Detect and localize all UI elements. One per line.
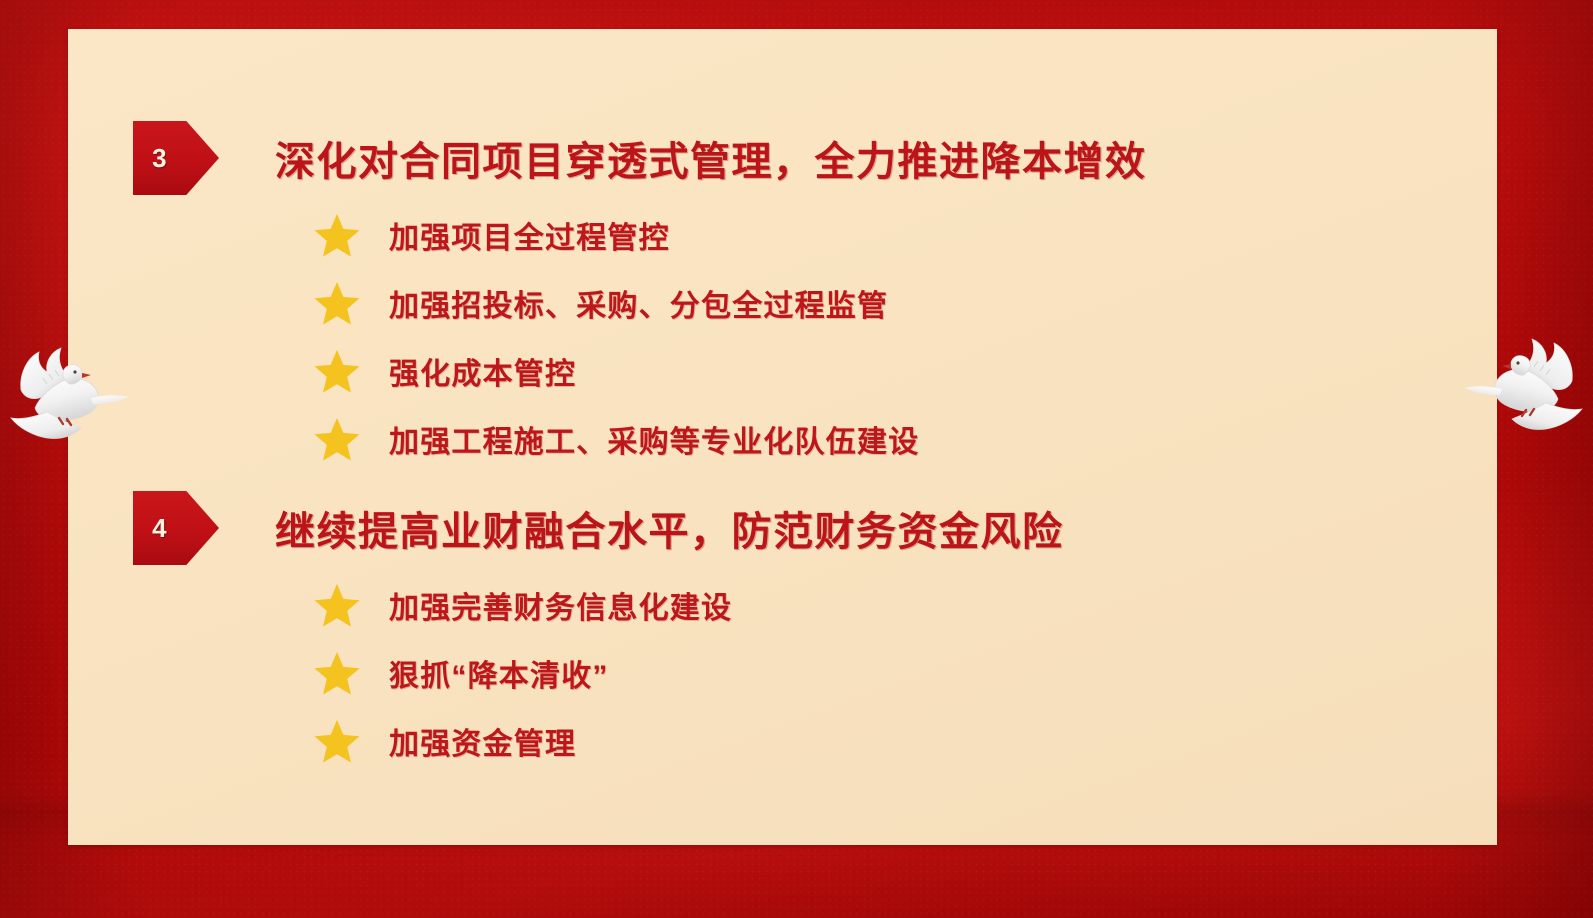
list-item: 加强招投标、采购、分包全过程监管: [0, 269, 1593, 337]
star-icon: [313, 582, 361, 628]
star-icon: [313, 212, 361, 258]
bullet-list-4: 加强完善财务信息化建设 狠抓“降本清收” 加强资金管理: [0, 571, 1593, 775]
list-item: 加强资金管理: [0, 707, 1593, 775]
slide-canvas: 3 深化对合同项目穿透式管理，全力推进降本增效 加强项目全过程管控: [0, 0, 1593, 918]
section-header-4: 4 继续提高业财融合水平，防范财务资金风险: [0, 491, 1593, 565]
badge-number-label: 4: [133, 491, 186, 565]
list-item-label: 狠抓“降本清收”: [389, 651, 609, 695]
list-item-label: 加强完善财务信息化建设: [389, 583, 732, 627]
badge-number-label: 3: [133, 121, 186, 195]
list-item: 加强完善财务信息化建设: [0, 571, 1593, 639]
section-number-badge-4: 4: [133, 491, 219, 565]
list-item: 加强项目全过程管控: [0, 201, 1593, 269]
section-block-3: 3 深化对合同项目穿透式管理，全力推进降本增效 加强项目全过程管控: [0, 121, 1593, 473]
star-icon: [313, 416, 361, 462]
section-title-3: 深化对合同项目穿透式管理，全力推进降本增效: [275, 129, 1147, 187]
star-icon: [313, 718, 361, 764]
bullet-list-3: 加强项目全过程管控 加强招投标、采购、分包全过程监管 强化成本管控: [0, 201, 1593, 473]
section-title-4: 继续提高业财融合水平，防范财务资金风险: [275, 499, 1064, 557]
list-item-label: 加强项目全过程管控: [389, 213, 670, 257]
list-item-label: 加强资金管理: [389, 719, 576, 763]
section-block-4: 4 继续提高业财融合水平，防范财务资金风险 加强完善财务信息化建设: [0, 491, 1593, 775]
section-number-badge-3: 3: [133, 121, 219, 195]
list-item: 狠抓“降本清收”: [0, 639, 1593, 707]
section-header-3: 3 深化对合同项目穿透式管理，全力推进降本增效: [0, 121, 1593, 195]
star-icon: [313, 280, 361, 326]
list-item-label: 加强招投标、采购、分包全过程监管: [389, 281, 888, 325]
list-item: 加强工程施工、采购等专业化队伍建设: [0, 405, 1593, 473]
list-item: 强化成本管控: [0, 337, 1593, 405]
star-icon: [313, 348, 361, 394]
star-icon: [313, 650, 361, 696]
list-item-label: 强化成本管控: [389, 349, 576, 393]
list-item-label: 加强工程施工、采购等专业化队伍建设: [389, 417, 919, 461]
